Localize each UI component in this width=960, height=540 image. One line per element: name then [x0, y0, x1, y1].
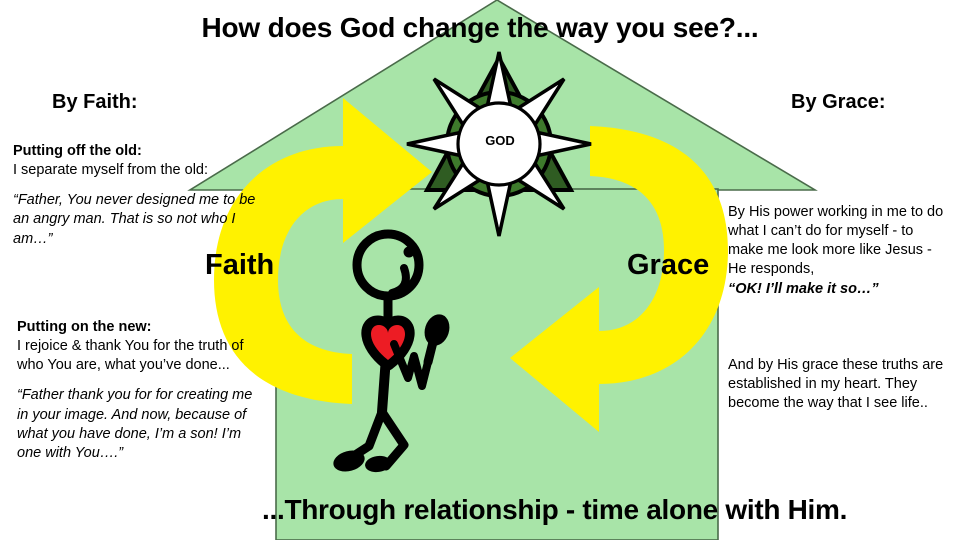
grace-label: Grace — [627, 249, 709, 282]
left-block1-line: I separate myself from the old: — [13, 161, 275, 180]
left-block2-heading: Putting on the new: — [17, 318, 265, 337]
left-block-putting-off: Putting off the old: I separate myself f… — [13, 142, 275, 249]
slide-canvas: How does God change the way you see?... … — [0, 0, 960, 540]
left-block-putting-on: Putting on the new: I rejoice & thank Yo… — [17, 318, 265, 463]
right-block1-quote: “OK! I’ll make it so…” — [728, 280, 950, 299]
right-block-grace: And by His grace these truths are establ… — [728, 356, 950, 413]
left-block2-line: I rejoice & thank You for the truth of w… — [17, 337, 265, 375]
left-block1-heading: Putting off the old: — [13, 142, 275, 161]
right-block2-line: And by His grace these truths are establ… — [728, 356, 950, 413]
spacer — [17, 375, 265, 386]
left-block2-quote: “Father thank you for for creating me in… — [17, 386, 265, 463]
faith-label: Faith — [205, 249, 274, 282]
spacer — [13, 180, 275, 191]
bottom-caption: ...Through relationship - time alone wit… — [262, 494, 960, 526]
left-block1-quote: “Father, You never designed me to be an … — [13, 191, 275, 248]
right-block-power: By His power working in me to do what I … — [728, 203, 950, 299]
left-column-heading: By Faith: — [52, 91, 138, 114]
right-column-heading: By Grace: — [791, 91, 886, 114]
page-title: How does God change the way you see?... — [0, 12, 960, 44]
right-block1-line: By His power working in me to do what I … — [728, 203, 950, 280]
god-label: GOD — [440, 133, 560, 148]
figure-eye — [404, 247, 415, 258]
